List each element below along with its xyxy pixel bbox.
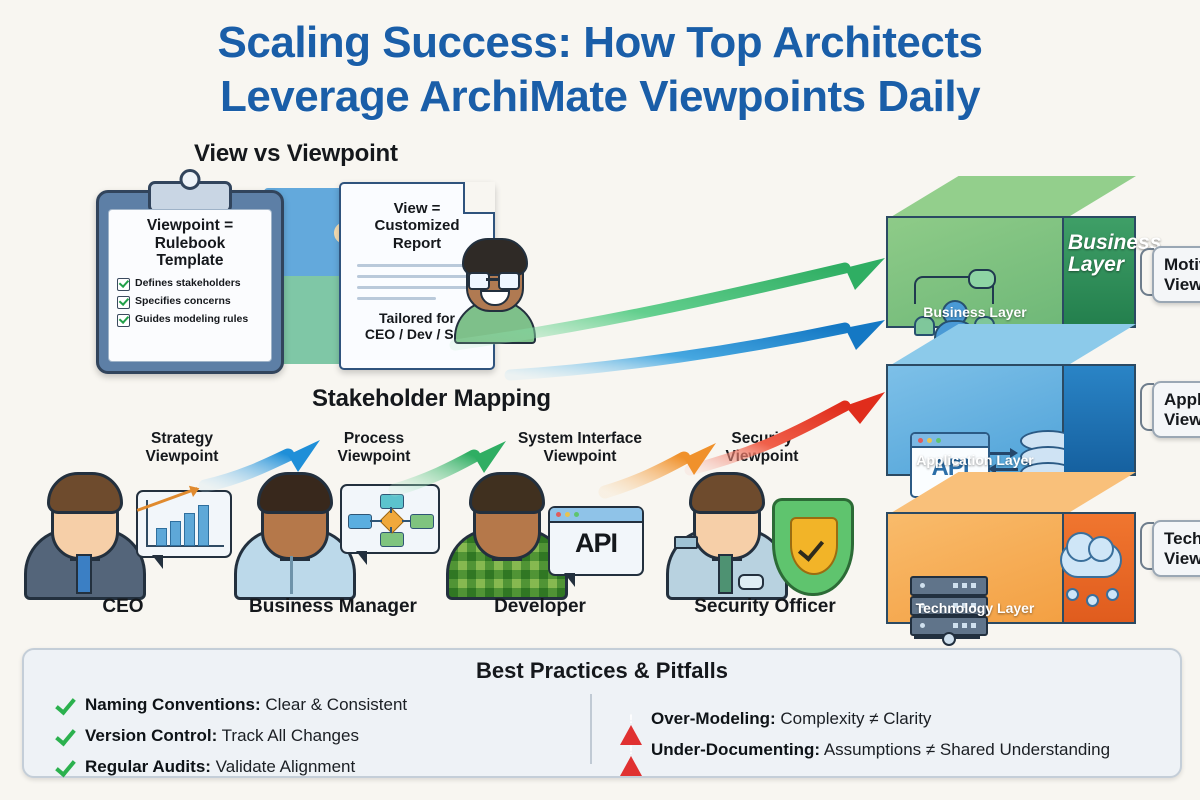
viewpoint-label-line-1: Process <box>312 430 436 448</box>
flow-node <box>410 514 434 529</box>
persona-badge-icon <box>738 574 764 590</box>
persona-necktie <box>76 554 92 594</box>
clipboard-ring-icon <box>180 169 201 190</box>
flow-arrow-application <box>510 320 885 375</box>
callout-motivation-viewpoint[interactable]: Motivation Viewpoint <box>1152 246 1200 303</box>
pitfall-detail: Assumptions ≠ Shared Understanding <box>820 740 1110 759</box>
callout-technology-viewpoint[interactable]: Technology Viewpoint <box>1152 520 1200 577</box>
checklist-item: Defines stakeholders <box>117 277 263 291</box>
flow-node <box>348 514 372 529</box>
warning-icon <box>620 739 642 761</box>
persona-name-label: Business Manager <box>249 596 417 618</box>
callout-line-1: Application <box>1164 390 1200 410</box>
viewpoint-label-line-2: Viewpoint <box>312 448 436 466</box>
persona-necktie <box>718 554 733 594</box>
cloud-network-node <box>1086 594 1099 607</box>
loop-node <box>968 269 996 289</box>
rack-unit <box>910 576 988 596</box>
checklist-item-label: Guides modeling rules <box>135 313 248 326</box>
list-item: Version Control: Track All Changes <box>54 725 574 747</box>
persona-developer: API Developer <box>440 470 640 620</box>
checklist-item: Specifies concerns <box>117 295 263 309</box>
practice-detail: Clear & Consistent <box>261 695 407 714</box>
document-title-line-2: Customized <box>341 217 493 234</box>
list-item: Regular Audits: Validate Alignment <box>54 756 574 778</box>
cube-side-face: Business Layer <box>1064 216 1136 328</box>
panel-divider <box>590 694 592 764</box>
viewpoint-label-line-1: Security <box>700 430 824 448</box>
practice-label: Naming Conventions: <box>85 695 261 714</box>
viewpoint-label-line-2: Viewpoint <box>500 448 660 466</box>
viewpoint-label-line-1: System Interface <box>500 430 660 448</box>
viewpoint-label-system-interface: System Interface Viewpoint <box>500 430 660 466</box>
shield-inner <box>790 517 838 575</box>
checklist-item-label: Specifies concerns <box>135 295 231 308</box>
avatar-hair <box>462 238 528 276</box>
cube-side-label: Business Layer <box>1068 232 1130 276</box>
practice-label: Regular Audits: <box>85 757 211 776</box>
clipboard-paper: Viewpoint = Rulebook Template Defines st… <box>108 209 272 362</box>
callout-line-2: Viewpoint <box>1164 549 1200 569</box>
persona-ceo: CEO <box>18 470 228 620</box>
viewpoint-clipboard-card: Viewpoint = Rulebook Template Defines st… <box>96 190 284 374</box>
reader-avatar <box>454 234 532 344</box>
flow-link <box>402 520 411 522</box>
rack-led <box>920 623 925 628</box>
cloud-network-node <box>1066 588 1079 601</box>
document-fold-corner <box>463 182 495 214</box>
flow-link <box>390 507 392 513</box>
clipboard-title-line-1: Viewpoint = <box>117 217 263 235</box>
practice-detail: Track All Changes <box>217 726 359 745</box>
title-line-2: Leverage ArchiMate Viewpoints Daily <box>0 70 1200 124</box>
callout-line-2: Viewpoint <box>1164 275 1200 295</box>
window-minimize-dot <box>565 512 570 517</box>
clipboard-title-line-2: Rulebook <box>117 235 263 253</box>
flow-decision-node <box>379 508 404 533</box>
layer-caption-technology: Technology Layer <box>886 600 1064 616</box>
view-vs-viewpoint-heading: View vs Viewpoint <box>194 140 398 168</box>
persona-name-label: Developer <box>494 596 586 618</box>
checkbox-checked-icon <box>117 278 130 291</box>
cube-side-label-line-1: Business <box>1068 232 1130 254</box>
stakeholder-mapping-heading: Stakeholder Mapping <box>312 385 551 413</box>
avatar-glasses-right <box>498 272 520 290</box>
practice-text: Regular Audits: Validate Alignment <box>85 756 355 777</box>
viewpoint-label-line-2: Viewpoint <box>700 448 824 466</box>
cloud-network-node <box>1106 588 1119 601</box>
persona-business-manager: Business Manager <box>228 470 438 620</box>
cube-side-face <box>1064 512 1136 624</box>
callout-line-2: Viewpoint <box>1164 410 1200 430</box>
check-icon <box>54 694 76 716</box>
list-item: Under-Documenting: Assumptions ≠ Shared … <box>620 739 1168 761</box>
check-icon <box>54 756 76 778</box>
persona-hair <box>689 472 765 514</box>
persona-hair <box>257 472 333 514</box>
rack-ports <box>953 623 979 628</box>
viewpoint-label-strategy: Strategy Viewpoint <box>120 430 244 466</box>
rack-ports <box>953 583 979 588</box>
window-minimize-dot <box>927 438 932 443</box>
avatar-glasses-left <box>468 272 490 290</box>
window-close-dot <box>918 438 923 443</box>
cloud-icon <box>1060 542 1122 578</box>
viewpoint-label-line-2: Viewpoint <box>120 448 244 466</box>
warning-icon <box>620 708 642 730</box>
avatar-glasses-bridge <box>486 278 498 281</box>
cloud-puff <box>1088 536 1114 562</box>
cube-side-label-line-2: Layer <box>1068 254 1130 276</box>
window-close-dot <box>556 512 561 517</box>
pitfall-label: Over-Modeling: <box>651 709 776 728</box>
arrow-line-left <box>996 468 1018 471</box>
chart-trend-arrowhead <box>189 483 202 497</box>
checkbox-checked-icon <box>117 296 130 309</box>
flow-link <box>390 527 392 533</box>
panel-title: Best Practices & Pitfalls <box>24 658 1180 684</box>
rack-led <box>920 583 925 588</box>
checklist-item-label: Defines stakeholders <box>135 277 241 290</box>
list-item: Naming Conventions: Clear & Consistent <box>54 694 574 716</box>
persona-epaulette <box>674 536 698 549</box>
window-maximize-dot <box>936 438 941 443</box>
window-titlebar <box>550 508 642 523</box>
pitfall-text: Under-Documenting: Assumptions ≠ Shared … <box>651 739 1110 760</box>
flow-node <box>380 532 404 547</box>
view-vs-viewpoint-group: Viewpoint = Rulebook Template Defines st… <box>96 172 516 370</box>
callout-line-1: Technology <box>1164 529 1200 549</box>
title-line-1: Scaling Success: How Top Architects <box>218 18 983 67</box>
practice-text: Version Control: Track All Changes <box>85 725 359 746</box>
practice-label: Version Control: <box>85 726 217 745</box>
check-icon <box>54 725 76 747</box>
cube-top-face <box>886 176 1136 220</box>
persona-name-label: Security Officer <box>694 596 836 618</box>
clipboard-title-line-3: Template <box>117 252 263 270</box>
rack-bus-node <box>942 632 956 646</box>
clipboard-title: Viewpoint = Rulebook Template <box>117 217 263 270</box>
cube-side-face <box>1064 364 1136 476</box>
flow-node <box>380 494 404 509</box>
viewpoint-label-line-1: Strategy <box>120 430 244 448</box>
pitfall-detail: Complexity ≠ Clarity <box>776 709 932 728</box>
layer-caption-application: Application Layer <box>886 452 1064 468</box>
window-maximize-dot <box>574 512 579 517</box>
callout-line-1: Motivation <box>1164 255 1200 275</box>
practice-text: Naming Conventions: Clear & Consistent <box>85 694 407 715</box>
archimate-layer-stack: Business Layer Business Layer API <box>886 176 1146 632</box>
flow-link <box>370 520 382 522</box>
api-label: API <box>550 528 642 559</box>
best-practices-pitfalls-column: Over-Modeling: Complexity ≠ Clarity Unde… <box>620 694 1168 770</box>
viewpoint-label-process: Process Viewpoint <box>312 430 436 466</box>
persona-security-officer: Security Officer <box>660 470 870 620</box>
checklist-item: Guides modeling rules <box>117 313 263 327</box>
page-title: Scaling Success: How Top Architects Leve… <box>0 16 1200 123</box>
callout-application-viewpoint[interactable]: Application Viewpoint <box>1152 381 1200 438</box>
persona-shirt-placket <box>290 556 293 594</box>
list-item: Over-Modeling: Complexity ≠ Clarity <box>620 708 1168 730</box>
shield-check-icon <box>772 498 854 596</box>
growth-chart-icon <box>136 490 232 558</box>
viewpoint-label-security: Security Viewpoint <box>700 430 824 466</box>
infographic-canvas: Scaling Success: How Top Architects Leve… <box>0 0 1200 800</box>
document-line <box>357 297 436 300</box>
pitfall-label: Under-Documenting: <box>651 740 820 759</box>
layer-caption-business: Business Layer <box>886 304 1064 320</box>
best-practices-panel: Best Practices & Pitfalls Naming Convent… <box>22 648 1182 778</box>
persona-name-label: CEO <box>102 596 143 618</box>
check-mark-icon <box>798 534 824 561</box>
process-flow-icon <box>340 484 440 554</box>
pitfall-text: Over-Modeling: Complexity ≠ Clarity <box>651 708 931 729</box>
api-window-icon: API <box>548 506 644 576</box>
practice-detail: Validate Alignment <box>211 757 355 776</box>
checkbox-checked-icon <box>117 314 130 327</box>
window-titlebar <box>912 434 988 448</box>
best-practices-good-column: Naming Conventions: Clear & Consistent V… <box>54 694 574 787</box>
persona-hair <box>47 472 123 514</box>
persona-hair <box>469 472 545 514</box>
